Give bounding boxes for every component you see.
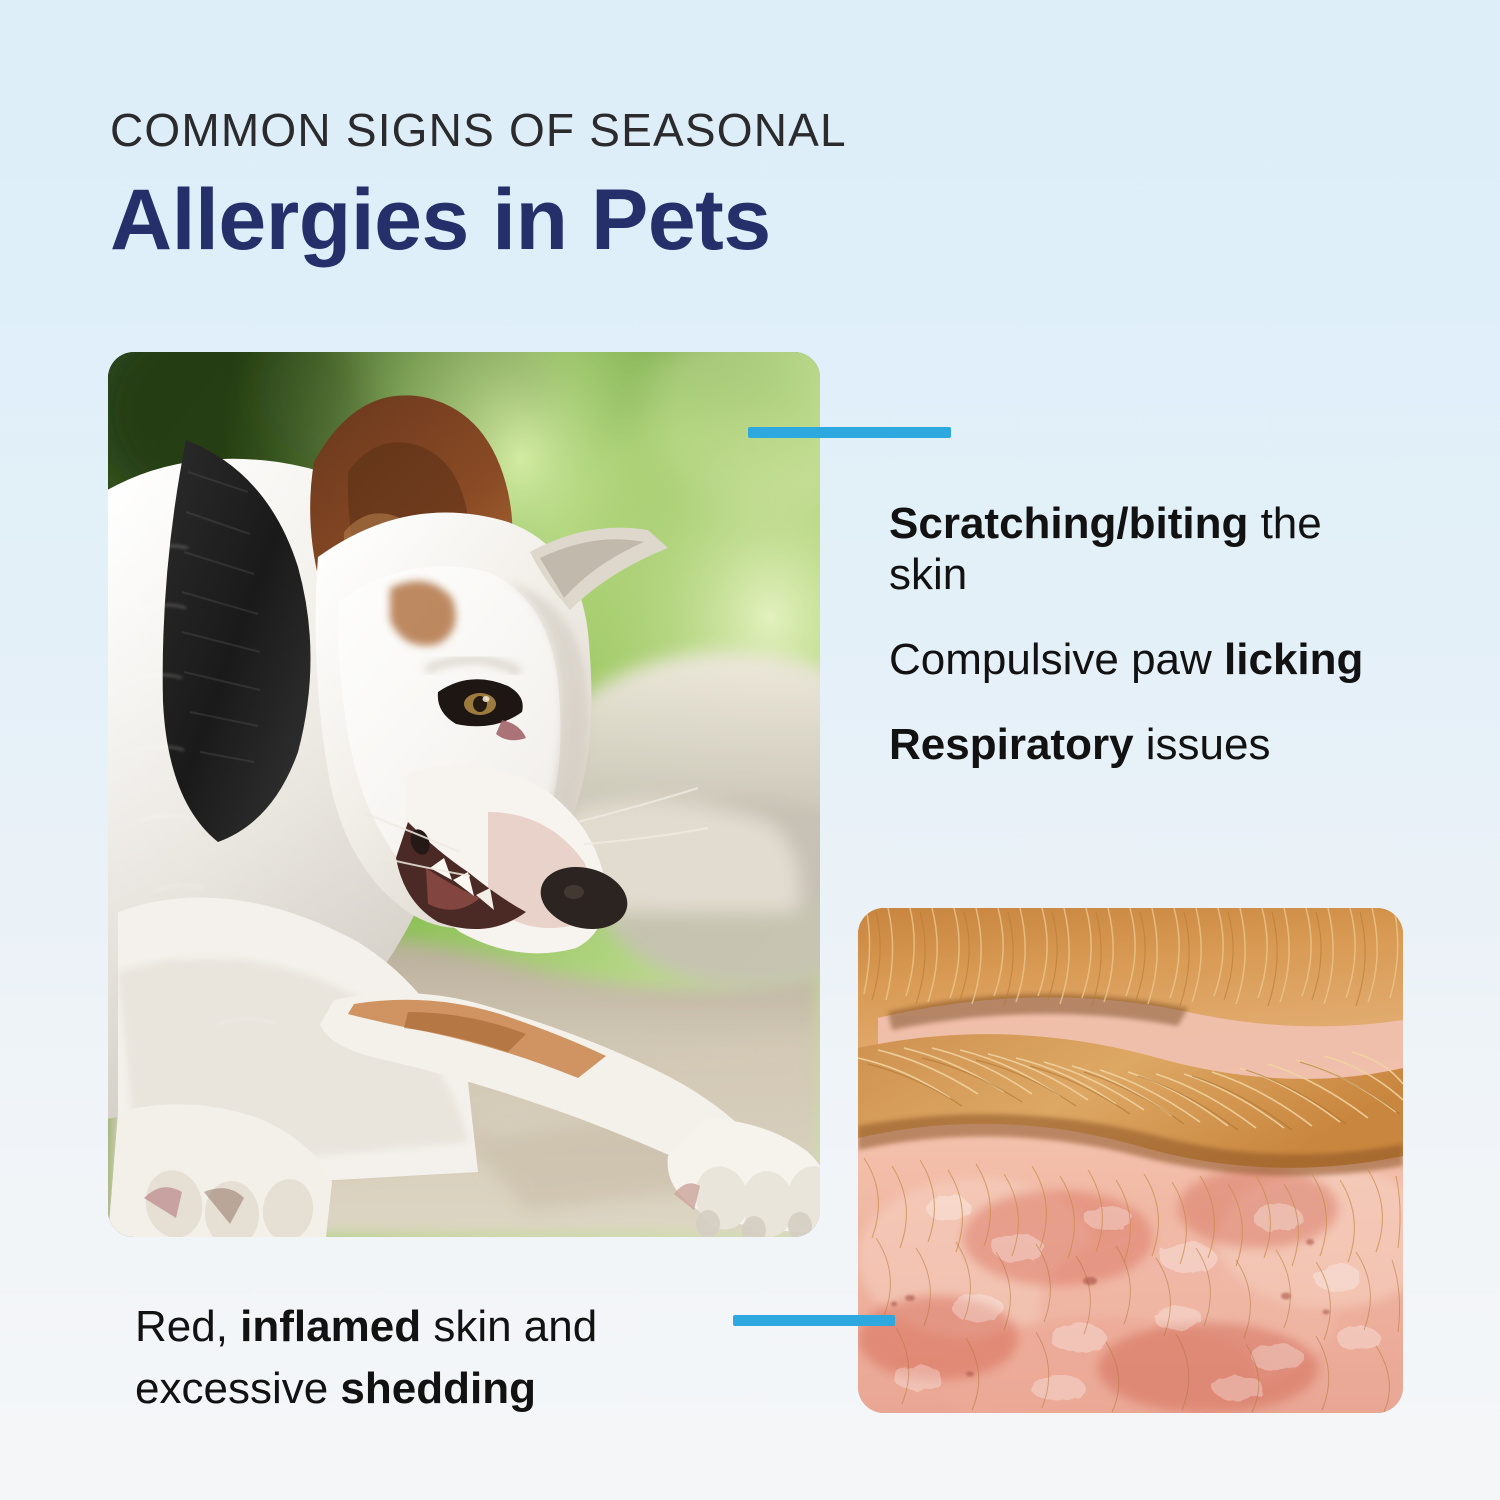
- symptom-list: Scratching/biting the skin Compulsive pa…: [889, 498, 1389, 770]
- caption-bold-shedding: shedding: [340, 1364, 536, 1413]
- symptom-1-bold: Scratching/biting: [889, 499, 1248, 548]
- symptom-item-paw-licking: Compulsive paw licking: [889, 634, 1389, 685]
- symptom-3-bold: Respiratory: [889, 720, 1134, 769]
- bottom-caption: Red, inflamed skin and excessive sheddin…: [135, 1296, 775, 1420]
- symptom-3-rest: issues: [1134, 720, 1271, 769]
- symptom-2-rest: Compulsive paw: [889, 635, 1224, 684]
- skin-photo-illustration: [858, 908, 1403, 1413]
- page-kicker: COMMON SIGNS OF SEASONAL: [110, 103, 847, 157]
- page-title: Allergies in Pets: [110, 168, 771, 272]
- symptom-2-bold: licking: [1224, 635, 1363, 684]
- infographic-canvas: COMMON SIGNS OF SEASONAL Allergies in Pe…: [0, 0, 1500, 1500]
- top-connector-line: [748, 427, 951, 438]
- dog-photo: [108, 352, 820, 1237]
- symptom-item-scratching-biting: Scratching/biting the skin: [889, 498, 1389, 600]
- caption-part-1: Red,: [135, 1302, 240, 1351]
- caption-bold-inflamed: inflamed: [240, 1302, 421, 1351]
- symptom-item-respiratory: Respiratory issues: [889, 719, 1389, 770]
- dog-photo-illustration: [108, 352, 820, 1237]
- skin-photo: [858, 908, 1403, 1413]
